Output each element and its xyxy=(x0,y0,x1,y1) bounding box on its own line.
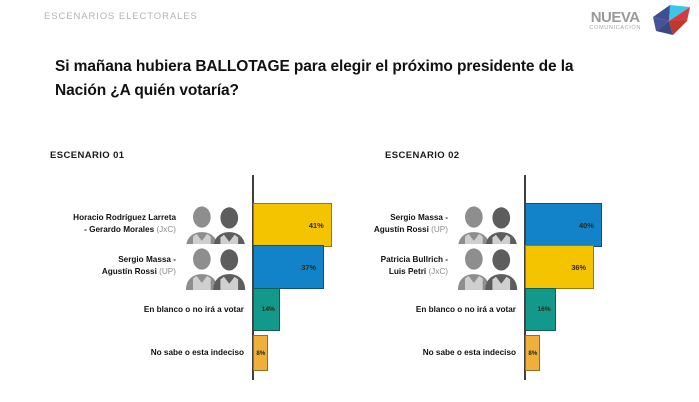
bar-escenario-02-4: 8% xyxy=(525,335,540,371)
bar-escenario-02-3: 16% xyxy=(525,288,556,331)
party-abbreviation: (UP) xyxy=(431,225,448,234)
party-abbreviation: (JxC) xyxy=(428,267,448,276)
row-label-line1: No sabe o esta indeciso xyxy=(316,347,516,359)
row-label-line2: Luis Petri (JxC) xyxy=(298,266,448,278)
row-label-escenario-01-4: No sabe o esta indeciso xyxy=(44,347,244,359)
row-label-escenario-02-2: Patricia Bullrich -Luis Petri (JxC) xyxy=(298,254,448,278)
row-label-line1: En blanco o no irá a votar xyxy=(316,304,516,316)
row-label-line1: Sergio Massa - xyxy=(26,254,176,266)
row-label-escenario-01-3: En blanco o no irá a votar xyxy=(44,304,244,316)
scenario-1-chart: 41%Horacio Rodríguez Larreta- Gerardo Mo… xyxy=(0,170,350,402)
brand-wordmark: NUEVA COMUNICACIÓN xyxy=(589,10,641,32)
bar-value-label: 40% xyxy=(579,221,594,230)
bar-escenario-02-1: 40% xyxy=(525,203,602,247)
bullrich-petri-portrait xyxy=(452,244,524,290)
party-abbreviation: (JxC) xyxy=(156,225,176,234)
page-title: Si mañana hubiera BALLOTAGE para elegir … xyxy=(55,55,615,103)
row-label-escenario-01-2: Sergio Massa -Agustín Rossi (UP) xyxy=(26,254,176,278)
bar-escenario-01-3: 14% xyxy=(253,288,280,331)
larreta-morales-portrait xyxy=(180,202,252,248)
scenario-2-title: ESCENARIO 02 xyxy=(385,150,460,161)
party-abbreviation: (UP) xyxy=(159,267,176,276)
bar-value-label: 16% xyxy=(538,306,551,313)
row-label-escenario-01-1: Horacio Rodríguez Larreta- Gerardo Moral… xyxy=(26,212,176,236)
massa-rossi-portrait xyxy=(180,244,252,290)
row-label-escenario-02-1: Sergio Massa -Agustín Rossi (UP) xyxy=(298,212,448,236)
row-label-escenario-02-3: En blanco o no irá a votar xyxy=(316,304,516,316)
row-label-line1: No sabe o esta indeciso xyxy=(44,347,244,359)
bar-value-label: 8% xyxy=(256,350,265,357)
brand-name: NUEVA xyxy=(591,10,640,25)
row-label-line2: - Gerardo Morales (JxC) xyxy=(26,224,176,236)
row-label-escenario-02-4: No sabe o esta indeciso xyxy=(316,347,516,359)
nueva-comunicacion-butterfly-logo-icon xyxy=(647,4,691,38)
brand-logo: NUEVA COMUNICACIÓN xyxy=(589,4,691,38)
scenario-1-title: ESCENARIO 01 xyxy=(50,150,125,161)
row-label-line1: Patricia Bullrich - xyxy=(298,254,448,266)
bar-value-label: 8% xyxy=(528,350,537,357)
scenario-2-chart: 40%Sergio Massa -Agustín Rossi (UP)36%Pa… xyxy=(349,170,699,402)
row-label-line2: Agustín Rossi (UP) xyxy=(298,224,448,236)
row-label-line2: Agustín Rossi (UP) xyxy=(26,266,176,278)
bar-escenario-02-2: 36% xyxy=(525,245,594,289)
row-label-line1: Sergio Massa - xyxy=(298,212,448,224)
brand-subtitle: COMUNICACIÓN xyxy=(589,26,641,32)
massa-rossi-portrait xyxy=(452,202,524,248)
bar-value-label: 14% xyxy=(262,306,275,313)
bar-value-label: 36% xyxy=(571,263,586,272)
row-label-line1: En blanco o no irá a votar xyxy=(44,304,244,316)
row-label-line1: Horacio Rodríguez Larreta xyxy=(26,212,176,224)
bar-escenario-01-4: 8% xyxy=(253,335,268,371)
page-kicker: ESCENARIOS ELECTORALES xyxy=(44,11,198,22)
